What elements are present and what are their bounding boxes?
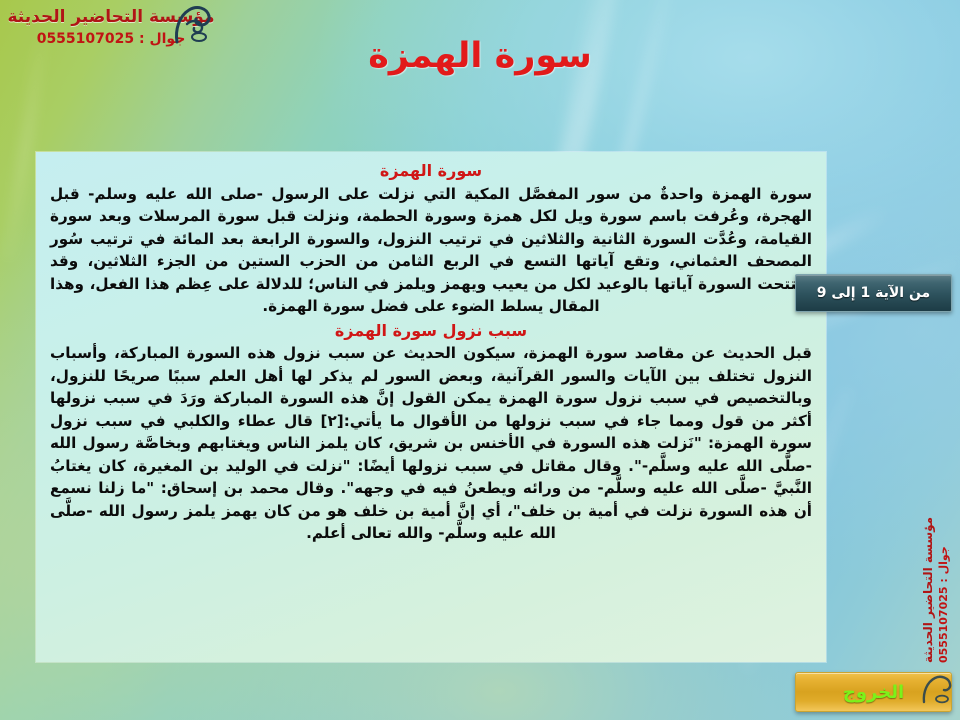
corner-calligraphy-icon (918, 672, 956, 710)
presentation-slide: مؤسسة التحاضير الحديثة جوال : 0555107025… (0, 0, 960, 720)
section-paragraph-reason-of-revelation: قبل الحديث عن مقاصد سورة الهمزة، سيكون ا… (50, 342, 812, 545)
section-paragraph-surah-intro: سورة الهمزة واحدةٌ من سور المفصَّل المكي… (50, 183, 812, 318)
verse-range-badge: من الآية 1 إلى 9 (795, 274, 952, 312)
exit-button-label: الخروج (843, 682, 904, 703)
lesson-content-panel: سورة الهمزة سورة الهمزة واحدةٌ من سور ال… (36, 152, 826, 662)
verse-range-label: من الآية 1 إلى 9 (817, 285, 930, 301)
side-watermark-phone: جوال : 0555107025 (937, 546, 950, 663)
section-heading-reason-of-revelation: سبب نزول سورة الهمزة (50, 320, 812, 342)
side-watermark-name: مؤسسة التحاضير الحديثة (921, 517, 935, 663)
page-title: سورة الهمزة (0, 36, 960, 76)
section-heading-surah-intro: سورة الهمزة (50, 160, 812, 182)
side-watermark: مؤسسة التحاضير الحديثة جوال : 0555107025 (906, 545, 950, 665)
